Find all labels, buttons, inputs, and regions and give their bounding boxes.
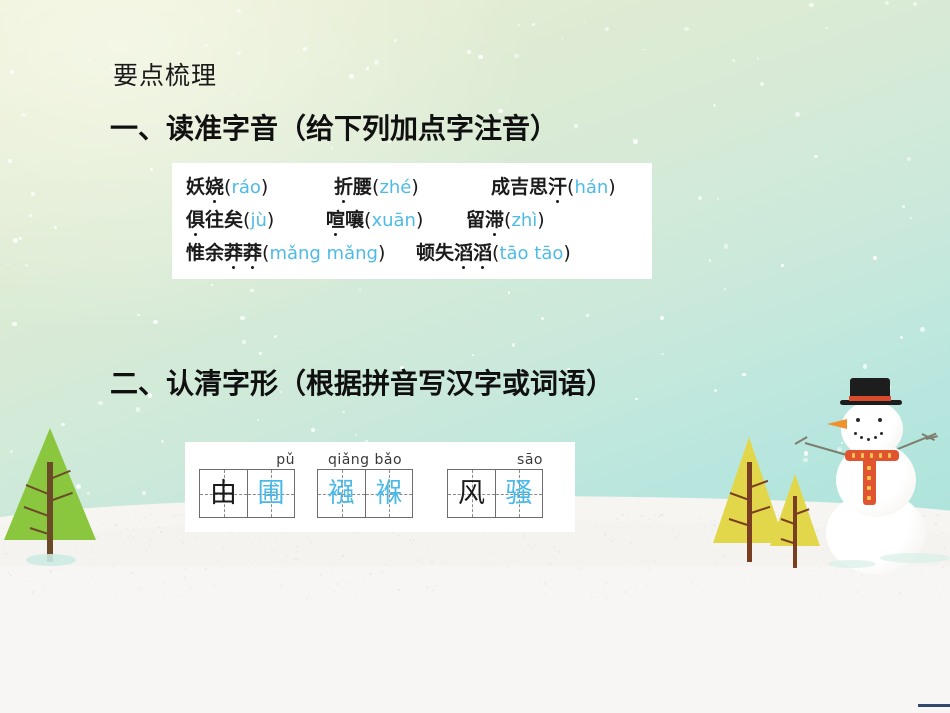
pinyin-close-paren: ) (411, 176, 418, 198)
pinyin-entry-word: 折腰 (334, 176, 372, 198)
pinyin-entry: 俱往矣(jù) (186, 204, 274, 237)
character-grid-group: qiǎng bǎo襁褓 (317, 452, 413, 518)
pinyin-entry-reading: mǎng mǎng (269, 243, 378, 264)
grid-pinyin-label: qiǎng bǎo (317, 452, 413, 469)
snowman-mouth-dot (867, 438, 870, 441)
pinyin-entry-word: 喧嚷 (326, 209, 364, 231)
pinyin-row: 俱往矣(jù)喧嚷(xuān)留滞(zhì) (186, 204, 642, 237)
pinyin-entry: 留滞(zhì) (466, 204, 545, 237)
pinyin-entry-reading: ráo (231, 177, 260, 198)
grid-cell-character: 由 (210, 480, 237, 507)
emphasis-dot (251, 266, 254, 269)
pinyin-entry: 成吉思汗(hán) (491, 171, 616, 204)
pinyin-entry-word: 惟余莽莽 (186, 242, 262, 264)
pinyin-entry-word: 成吉思汗 (491, 176, 567, 198)
grid-pinyin-label: sāo (447, 452, 543, 469)
snowman-head (841, 401, 903, 457)
snowman-hat-band (849, 396, 891, 401)
emphasis-dot (556, 200, 559, 203)
snowman-scarf-stripe (870, 453, 873, 458)
pinyin-entry: 折腰(zhé) (334, 171, 419, 204)
pinyin-entry-reading: tāo tāo (499, 243, 563, 264)
emphasis-dot (213, 200, 216, 203)
pinyin-entry-word: 俱往矣 (186, 209, 243, 231)
snowman-scarf-stripe (867, 496, 871, 500)
tree-trunk-yellow-short (793, 496, 797, 568)
bottom-scroll-artifact (918, 704, 950, 707)
pinyin-close-paren: ) (608, 176, 615, 198)
snowman-scarf-stripe (879, 453, 882, 458)
grid-cell: 圃 (247, 470, 294, 517)
pinyin-close-paren: ) (378, 242, 385, 264)
pinyin-close-paren: ) (416, 209, 423, 231)
emphasis-dot (342, 200, 345, 203)
pinyin-entry: 顿失滔滔(tāo tāo) (416, 237, 571, 270)
pinyin-entry-reading: zhì (511, 210, 537, 231)
pinyin-entry: 惟余莽莽(mǎng mǎng) (186, 237, 385, 270)
grid-cell-character: 圃 (258, 480, 285, 507)
pinyin-close-paren: ) (261, 176, 268, 198)
snowman-scarf-stripe (867, 466, 871, 470)
grid-cells: 襁褓 (317, 469, 413, 518)
snowman-scarf-stripe (888, 453, 891, 458)
grid-cell-character: 褓 (376, 480, 403, 507)
emphasis-dot (462, 266, 465, 269)
snowman-mouth-dot (854, 432, 857, 435)
snowman-mouth-dot (880, 432, 883, 435)
page-title: 要点梳理 (113, 56, 217, 92)
character-grid-box: pǔ由圃qiǎng bǎo襁褓sāo风骚 (185, 442, 575, 532)
emphasis-dot (194, 233, 197, 236)
snow-drift (880, 553, 950, 563)
snowman-mouth-dot (860, 436, 863, 439)
pinyin-entry: 喧嚷(xuān) (326, 204, 423, 237)
snow-ground (0, 566, 950, 713)
pinyin-content-box: 妖娆(ráo)折腰(zhé)成吉思汗(hán)俱往矣(jù)喧嚷(xuān)留滞… (172, 163, 652, 279)
slide-canvas: 要点梳理 一、读准字音（给下列加点字注音） 二、认清字形（根据拼音写汉字或词语）… (0, 0, 950, 713)
pinyin-entry: 妖娆(ráo) (186, 171, 268, 204)
snowman-eye-left (856, 418, 860, 422)
emphasis-dot (232, 266, 235, 269)
snowman-scarf-stripe (852, 453, 855, 458)
pinyin-row: 惟余莽莽(mǎng mǎng)顿失滔滔(tāo tāo) (186, 237, 642, 270)
character-grid-group: sāo风骚 (447, 452, 543, 518)
grid-cell: 风 (448, 470, 495, 517)
grid-cells: 由圃 (199, 469, 295, 518)
snowman-scarf-stripe (861, 453, 864, 458)
pinyin-entry-reading: zhé (379, 177, 411, 198)
grid-cell-character: 骚 (506, 480, 533, 507)
grid-pinyin-label: pǔ (199, 452, 295, 469)
snowman-eye-right (878, 418, 882, 422)
pinyin-entry-reading: hán (574, 177, 608, 198)
pinyin-entry-reading: xuān (371, 210, 416, 231)
grid-cell: 褓 (365, 470, 412, 517)
section-one-heading: 一、读准字音（给下列加点字注音） (110, 107, 558, 147)
tree-base-shadow (26, 554, 76, 566)
pinyin-row: 妖娆(ráo)折腰(zhé)成吉思汗(hán) (186, 171, 642, 204)
emphasis-dot (481, 266, 484, 269)
grid-cells: 风骚 (447, 469, 543, 518)
emphasis-dot (334, 233, 337, 236)
pinyin-entry-reading: jù (250, 210, 266, 231)
section-two-heading: 二、认清字形（根据拼音写汉字或词语） (110, 362, 614, 402)
grid-cell-character: 襁 (328, 480, 355, 507)
emphasis-dot (493, 233, 496, 236)
pinyin-close-paren: ) (563, 242, 570, 264)
snowman-scarf-stripe (867, 486, 871, 490)
grid-cell: 骚 (495, 470, 542, 517)
pinyin-close-paren: ) (537, 209, 544, 231)
snowman-scarf-stripe (867, 476, 871, 480)
grid-cell-character: 风 (458, 480, 485, 507)
grid-cell: 襁 (318, 470, 365, 517)
snow-drift (828, 560, 876, 568)
pinyin-entry-word: 顿失滔滔 (416, 242, 492, 264)
character-grid-group: pǔ由圃 (199, 452, 295, 518)
snowman-carrot-nose-icon (827, 419, 847, 429)
pinyin-close-paren: ) (267, 209, 274, 231)
pinyin-entry-word: 妖娆 (186, 176, 224, 198)
pinyin-entry-word: 留滞 (466, 209, 504, 231)
snowman-mouth-dot (874, 436, 877, 439)
grid-cell: 由 (200, 470, 247, 517)
